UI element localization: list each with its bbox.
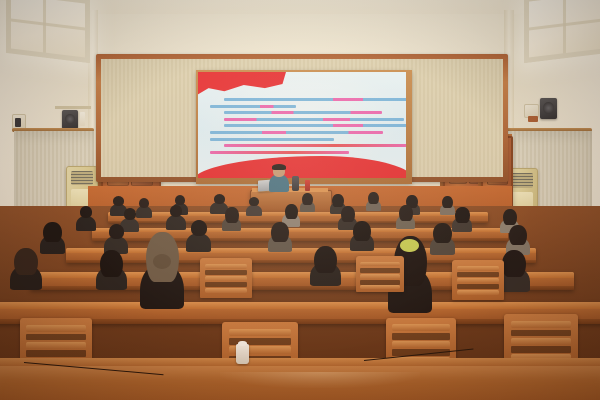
hair-scrunchie [400,239,419,252]
chair-mid-1[interactable] [200,258,252,298]
window-right [524,0,600,63]
presenter-microphone [292,176,299,191]
audience-member-head [433,223,452,243]
slide-text-block [210,98,398,157]
audience-member [10,248,42,288]
chair-mid-2[interactable] [452,260,504,300]
audience-member [396,205,415,228]
audience-member-head [100,250,123,277]
audience-member-head [80,206,92,218]
audience-member [140,232,184,306]
wall-shelf-left [55,106,91,109]
audience-member [166,205,186,229]
shelf-bottle-left [80,112,85,126]
audience-member-head [353,221,371,241]
presenter-bottle [305,180,310,191]
audience-member-head [368,192,379,204]
audience-member-head [502,250,526,277]
audience-member [186,220,211,250]
audience-member-torso [166,215,186,230]
foreground-desk-sheen [220,372,420,388]
audience-member-head [43,222,62,242]
audience-member [40,222,65,252]
audience-member [310,246,341,285]
audience-member-head [285,204,298,219]
audience-member-head [503,209,517,225]
audience-member [350,221,374,250]
audience-member-head [109,224,124,239]
audience-member [246,197,262,215]
audience-member [430,223,455,253]
room-shell [0,0,600,400]
window-left [6,0,90,63]
hair-bun [153,254,171,269]
wall-speaker-right [540,98,557,119]
audience-member-head [509,225,527,245]
audience-member [96,250,127,289]
audience-member-head [170,205,182,217]
chair-mid-3[interactable] [356,256,404,292]
wall-speaker-left [62,110,78,129]
audience-member-head [225,207,239,223]
audience-member [452,207,472,231]
audience-member-head [214,194,225,204]
audience-member-head [175,195,185,205]
audience-member [268,222,292,251]
audience-member-head [302,193,313,205]
audience-member-head [191,220,207,236]
audience-member-head [314,246,337,273]
audience-member-torso [246,205,262,216]
projection-screen[interactable] [198,72,406,178]
wall-switch-indicator-left [15,118,21,127]
audience-member [76,206,96,230]
audience-member [366,192,381,210]
paper-cup[interactable] [236,344,249,364]
audience-member-head [139,198,149,208]
audience-member-head [399,205,413,221]
audience-member-head [249,197,259,206]
audience-member-head [124,208,136,220]
audience-member [222,207,241,230]
audience-member-head [271,222,289,242]
audience-member-head [113,196,124,206]
audience-member-head [341,206,355,222]
lecture-hall-photo [0,0,600,400]
audience-member [104,224,128,253]
presenter-hair [272,164,286,170]
audience-member-head [455,207,470,223]
audience-member-torso [76,216,96,231]
audience-member [300,193,315,211]
audience-member-head [14,248,38,275]
wall-mount-right [528,116,538,122]
